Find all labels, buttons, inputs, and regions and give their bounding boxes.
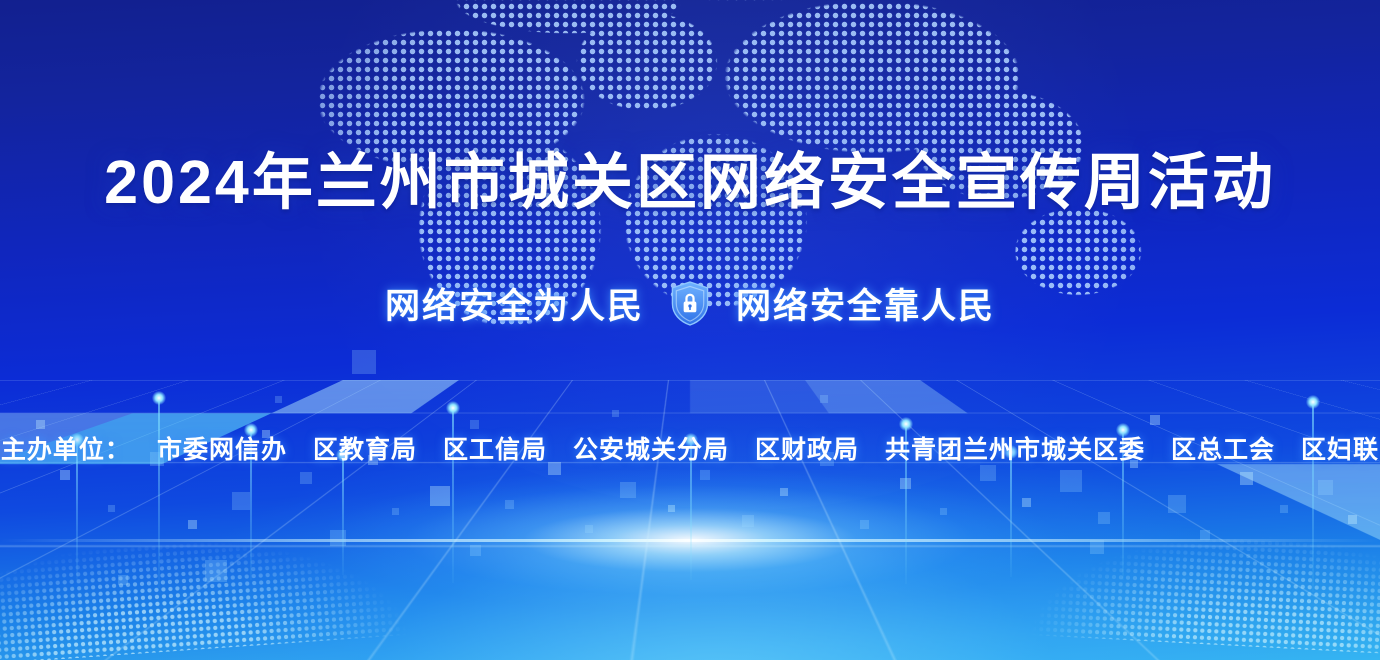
organizer-item: 区工信局 <box>443 430 547 466</box>
organizer-label: 主办单位： <box>1 430 131 466</box>
shield-lock-icon <box>670 281 710 326</box>
subtitle-left-text: 网络安全为人民 <box>385 278 644 329</box>
security-week-banner: 2024年兰州市城关区网络安全宣传周活动 网络安全为人民 网络安全靠人民 <box>0 0 1380 660</box>
organizer-list: 主办单位： 市委网信办区教育局区工信局公安城关分局区财政局共青团兰州市城关区委区… <box>0 430 1380 466</box>
organizer-item: 共青团兰州市城关区委 <box>885 430 1145 466</box>
banner-title: 2024年兰州市城关区网络安全宣传周活动 <box>0 150 1380 214</box>
organizer-item: 公安城关分局 <box>573 430 729 466</box>
organizer-item: 区教育局 <box>313 430 417 466</box>
organizer-item: 区财政局 <box>755 430 859 466</box>
organizer-item: 区妇联 <box>1301 430 1379 466</box>
organizer-item: 市委网信办 <box>157 430 287 466</box>
banner-subtitle: 网络安全为人民 网络安全靠人民 <box>0 278 1380 329</box>
subtitle-right-text: 网络安全靠人民 <box>736 278 995 329</box>
organizer-item: 区总工会 <box>1171 430 1275 466</box>
